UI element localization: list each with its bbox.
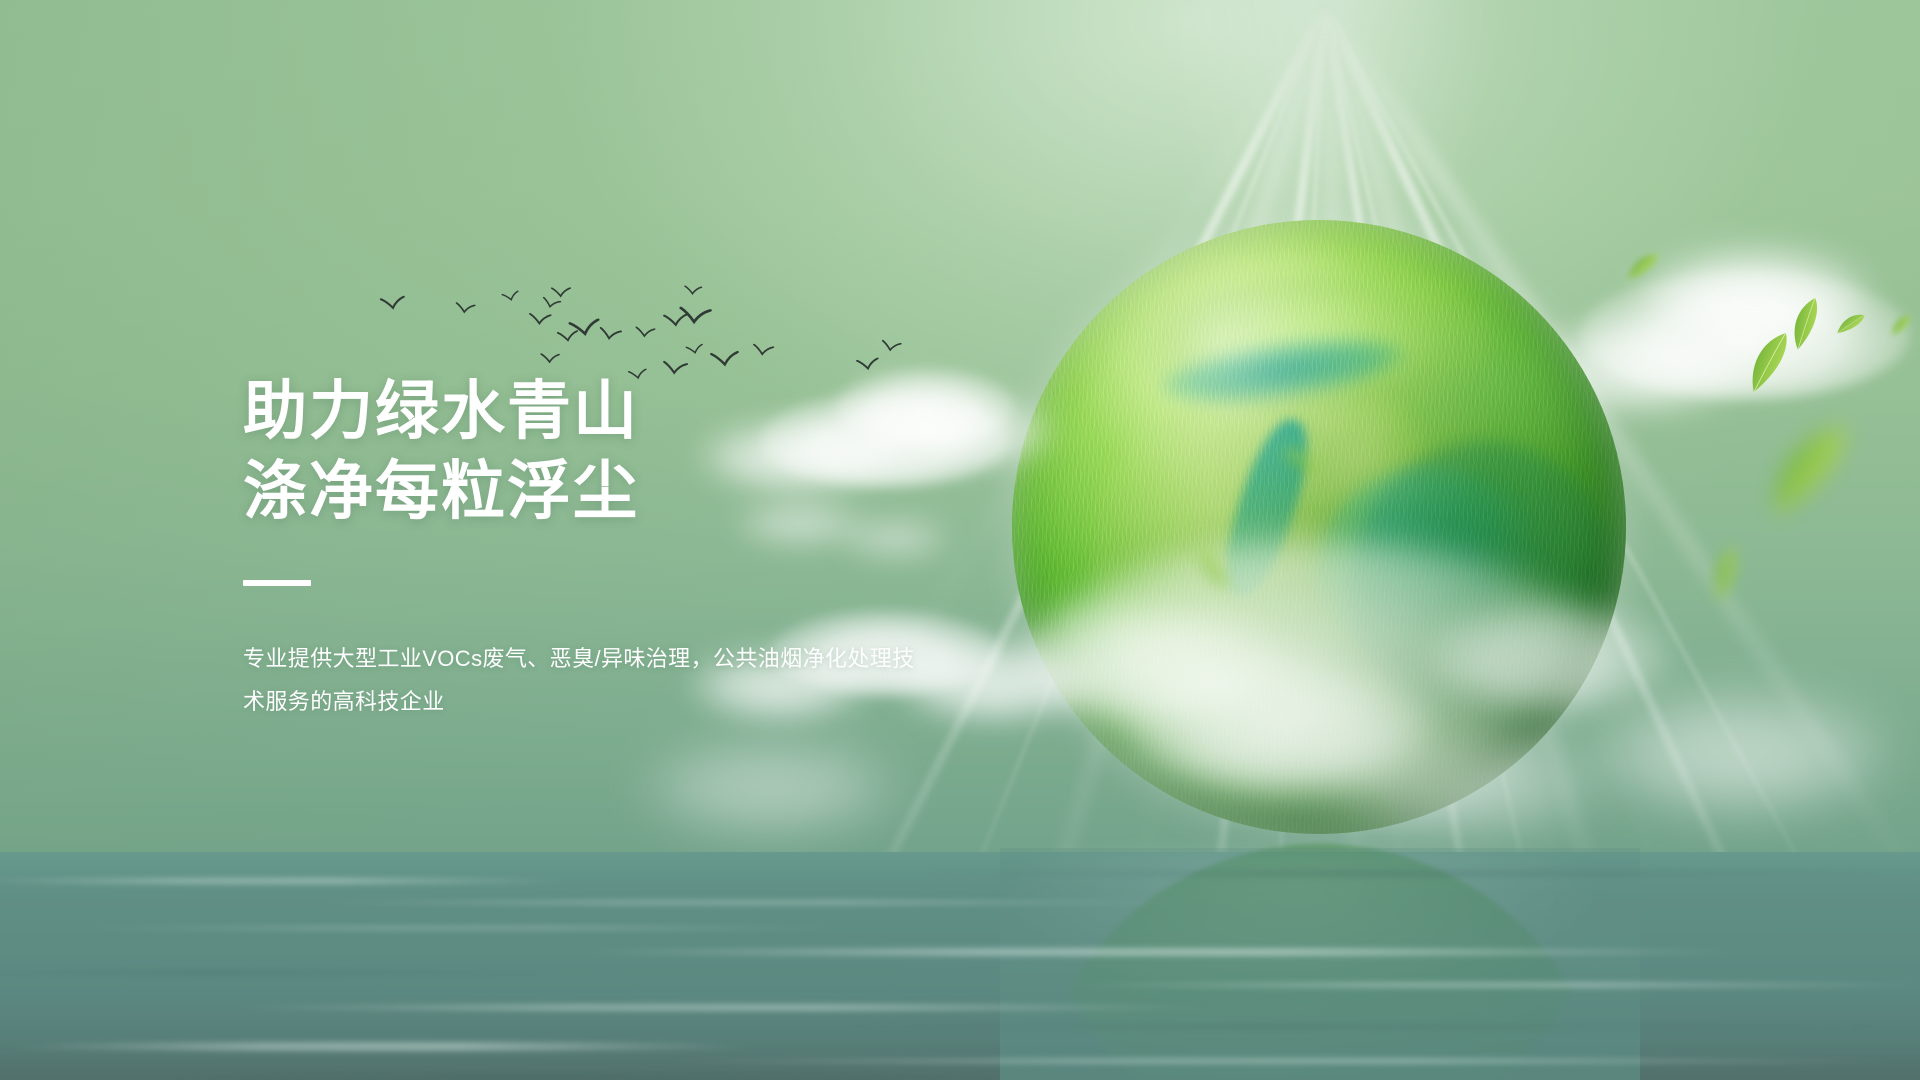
bird-icon-6 xyxy=(551,287,572,298)
water-streak-7 xyxy=(220,1004,1220,1011)
water-ripples xyxy=(0,852,1920,1080)
water-streak-1 xyxy=(300,900,1200,905)
water-streak-10 xyxy=(640,1058,1920,1064)
water-streak-0 xyxy=(0,878,580,884)
globe-sphere xyxy=(1012,220,1626,834)
water-streak-6 xyxy=(1050,982,1920,988)
bird-icon-17 xyxy=(710,351,741,369)
water-streak-9 xyxy=(0,1042,760,1051)
water-streak-4 xyxy=(560,948,1760,956)
water-streak-2 xyxy=(900,870,1920,877)
water-streak-3 xyxy=(60,926,860,930)
bird-icon-0 xyxy=(379,296,406,313)
water-streak-8 xyxy=(820,1024,1920,1029)
hero-copy: 助力绿水青山 涤净每粒浮尘 专业提供大型工业VOCs废气、恶臭/异味治理，公共油… xyxy=(243,374,1003,746)
headline-line-2: 涤净每粒浮尘 xyxy=(243,454,1003,528)
bird-icon-9 xyxy=(540,353,561,365)
water-streak-11 xyxy=(140,1074,1040,1079)
water-streak-5 xyxy=(0,970,620,975)
headline-line-1: 助力绿水青山 xyxy=(243,374,1003,448)
hero-banner: 助力绿水青山 涤净每粒浮尘 专业提供大型工业VOCs废气、恶臭/异味治理，公共油… xyxy=(0,0,1920,1080)
bird-icon-15 xyxy=(683,285,702,296)
bird-icon-11 xyxy=(634,326,656,339)
headline-divider xyxy=(243,580,311,586)
globe-rim-light xyxy=(1012,220,1626,834)
earth-globe xyxy=(1012,220,1626,834)
hero-subtitle: 专业提供大型工业VOCs废气、恶臭/异味治理，公共油烟净化处理技术服务的高科技企… xyxy=(243,638,923,724)
bird-icon-13 xyxy=(677,306,712,327)
bird-icon-3 xyxy=(528,313,552,327)
bird-icon-19 xyxy=(856,358,881,373)
